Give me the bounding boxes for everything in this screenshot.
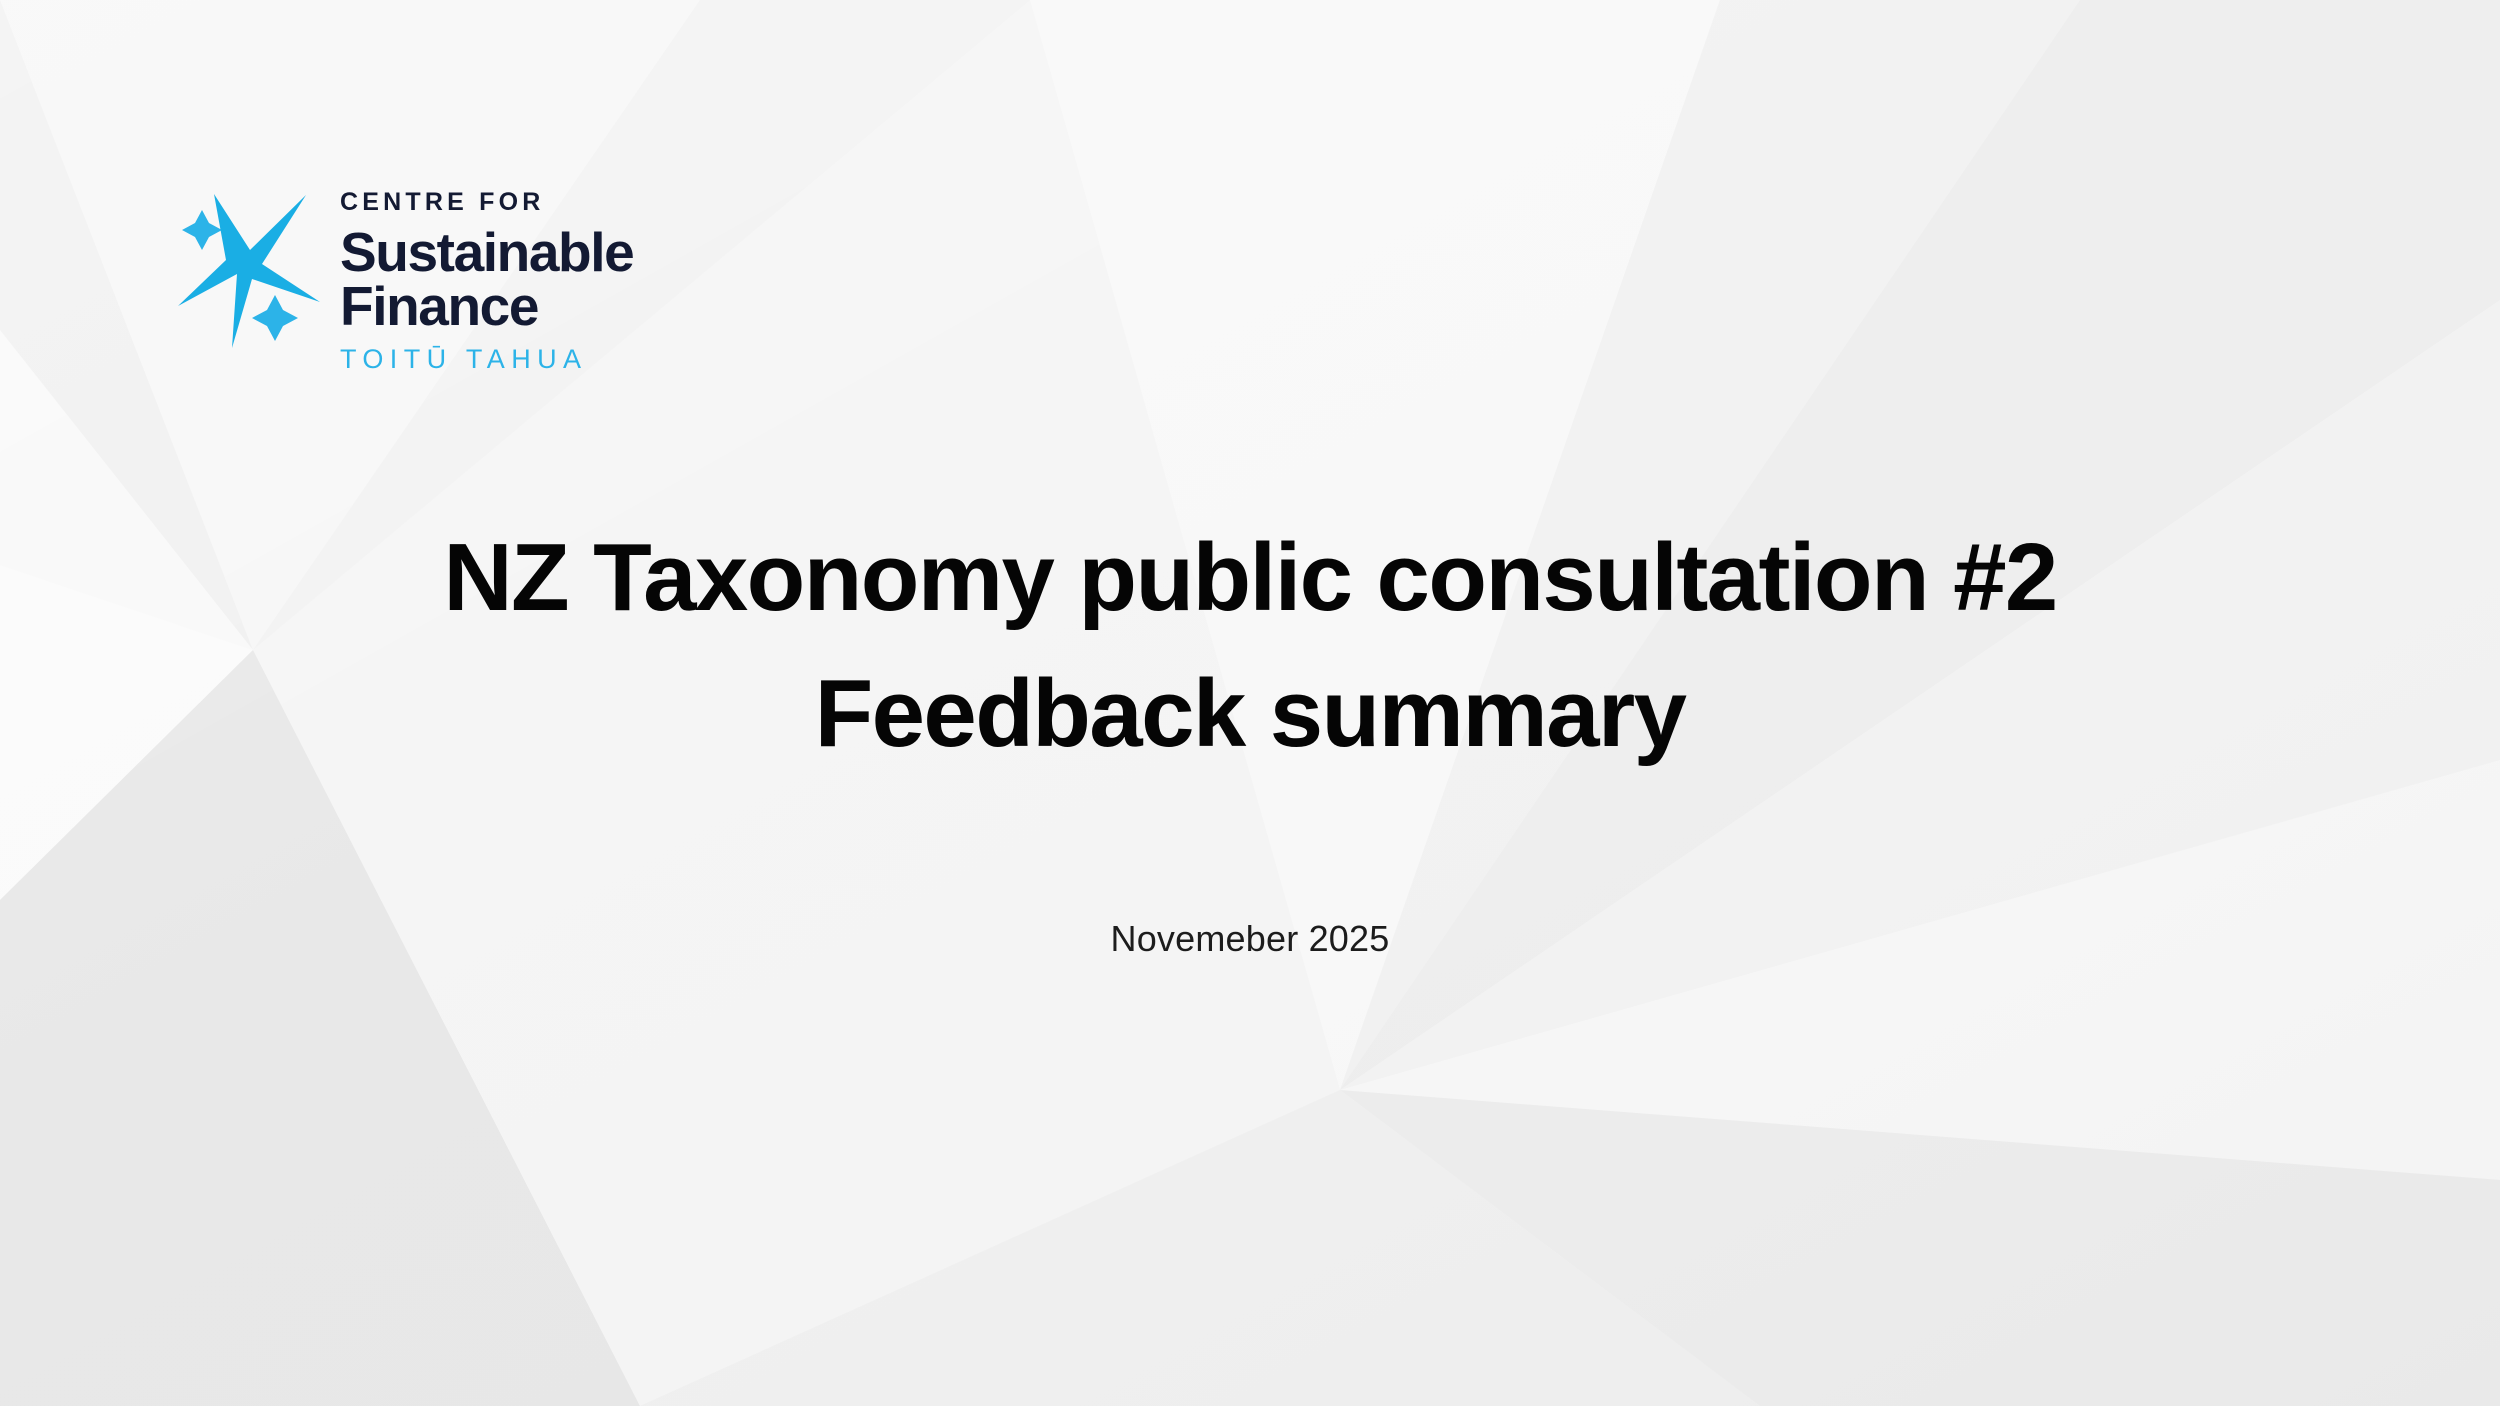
- page-title: NZ Taxonomy public consultation #2 Feedb…: [0, 510, 2500, 783]
- logo-name-line-2: Finance: [340, 280, 538, 334]
- logo-wordmark: CENTRE FOR Sustainable Finance TOITŪ TAH…: [340, 168, 633, 373]
- logo-tagline: TOITŪ TAHUA: [340, 346, 587, 373]
- title-line-2: Feedback summary: [0, 646, 2500, 782]
- slide-date: Novemeber 2025: [1111, 918, 1390, 959]
- title-slide: CENTRE FOR Sustainable Finance TOITŪ TAH…: [0, 0, 2500, 1406]
- sparkle-small-upper-icon: [182, 210, 222, 250]
- date-block: Novemeber 2025: [0, 918, 2500, 960]
- sparkle-small-lower-icon: [252, 295, 298, 341]
- four-point-sparkle-icon: [168, 168, 340, 378]
- logo-name-line-1: Sustainable: [340, 226, 633, 280]
- logo-eyebrow: CENTRE FOR: [340, 190, 545, 215]
- title-line-1: NZ Taxonomy public consultation #2: [0, 510, 2500, 646]
- logo-lockup: CENTRE FOR Sustainable Finance TOITŪ TAH…: [168, 168, 633, 378]
